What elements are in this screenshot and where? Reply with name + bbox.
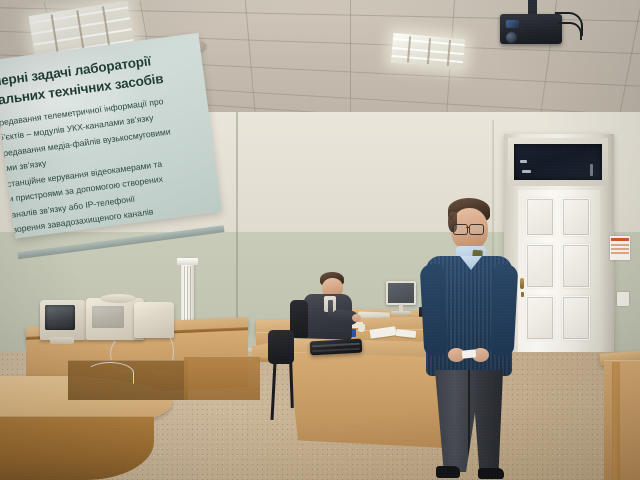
- presenter-right-arm: [490, 263, 519, 356]
- transom-window: [508, 138, 608, 186]
- transom-glass: [514, 144, 602, 180]
- eyeglasses-bridge: [466, 227, 469, 228]
- office-chair[interactable]: [268, 330, 294, 364]
- eyeglasses-left-lens: [453, 224, 468, 235]
- door-panel: [562, 198, 590, 236]
- slide-bullet-list: Передавання телеметричної інформації про…: [0, 88, 222, 239]
- crt-monitor-screen: [92, 306, 124, 328]
- projector-body: [500, 14, 562, 44]
- door-panel: [562, 296, 590, 340]
- presenter-trousers: [432, 370, 506, 472]
- wall-notice-sign: [610, 236, 630, 260]
- crt-monitor-screen: [45, 305, 75, 330]
- presenter-left-arm: [420, 263, 449, 356]
- lcd-monitor-base: [391, 311, 410, 315]
- presenter-right-shoe: [478, 468, 504, 479]
- door-panel: [526, 198, 554, 236]
- desk-disc-object: [100, 294, 136, 303]
- door-panel: [562, 244, 590, 288]
- door-panel: [526, 296, 554, 340]
- attendee-hand: [352, 314, 361, 322]
- right-edge-desk-front: [604, 360, 640, 480]
- back-right-partition: [184, 356, 260, 400]
- projector-indicator-icon: [506, 20, 519, 28]
- projection-screen-surface: нженерні задачі лабораторії пеціальних т…: [0, 33, 222, 239]
- lcd-monitor-panel: [386, 281, 416, 305]
- crt-monitor-left: [40, 300, 86, 340]
- laptop-bag: [310, 339, 363, 356]
- wall-outlet[interactable]: [617, 292, 629, 306]
- room-door[interactable]: [518, 190, 600, 358]
- presenter-left-shoe: [436, 466, 460, 478]
- right-edge-desk-leg: [612, 362, 620, 480]
- crt-monitor-stand: [50, 337, 74, 344]
- pilaster-capital: [177, 258, 198, 265]
- lcd-monitor: [386, 281, 416, 315]
- lecture-room-photo: нженерні задачі лабораторії пеціальних т…: [0, 0, 640, 480]
- hanging-cable: [86, 362, 134, 384]
- projector-lens-icon: [506, 32, 517, 43]
- eyeglasses-right-lens: [469, 224, 484, 235]
- trouser-crease: [468, 370, 470, 472]
- projection-screen: нженерні задачі лабораторії пеціальних т…: [0, 33, 224, 253]
- standing-presenter: [420, 198, 530, 480]
- projector-cable-secondary: [558, 22, 582, 40]
- ceiling-projector: [500, 0, 586, 48]
- ceiling-light-right: [391, 33, 465, 69]
- door-panel: [526, 244, 554, 288]
- held-paper-note: [462, 349, 477, 358]
- seated-attendee: [300, 272, 366, 344]
